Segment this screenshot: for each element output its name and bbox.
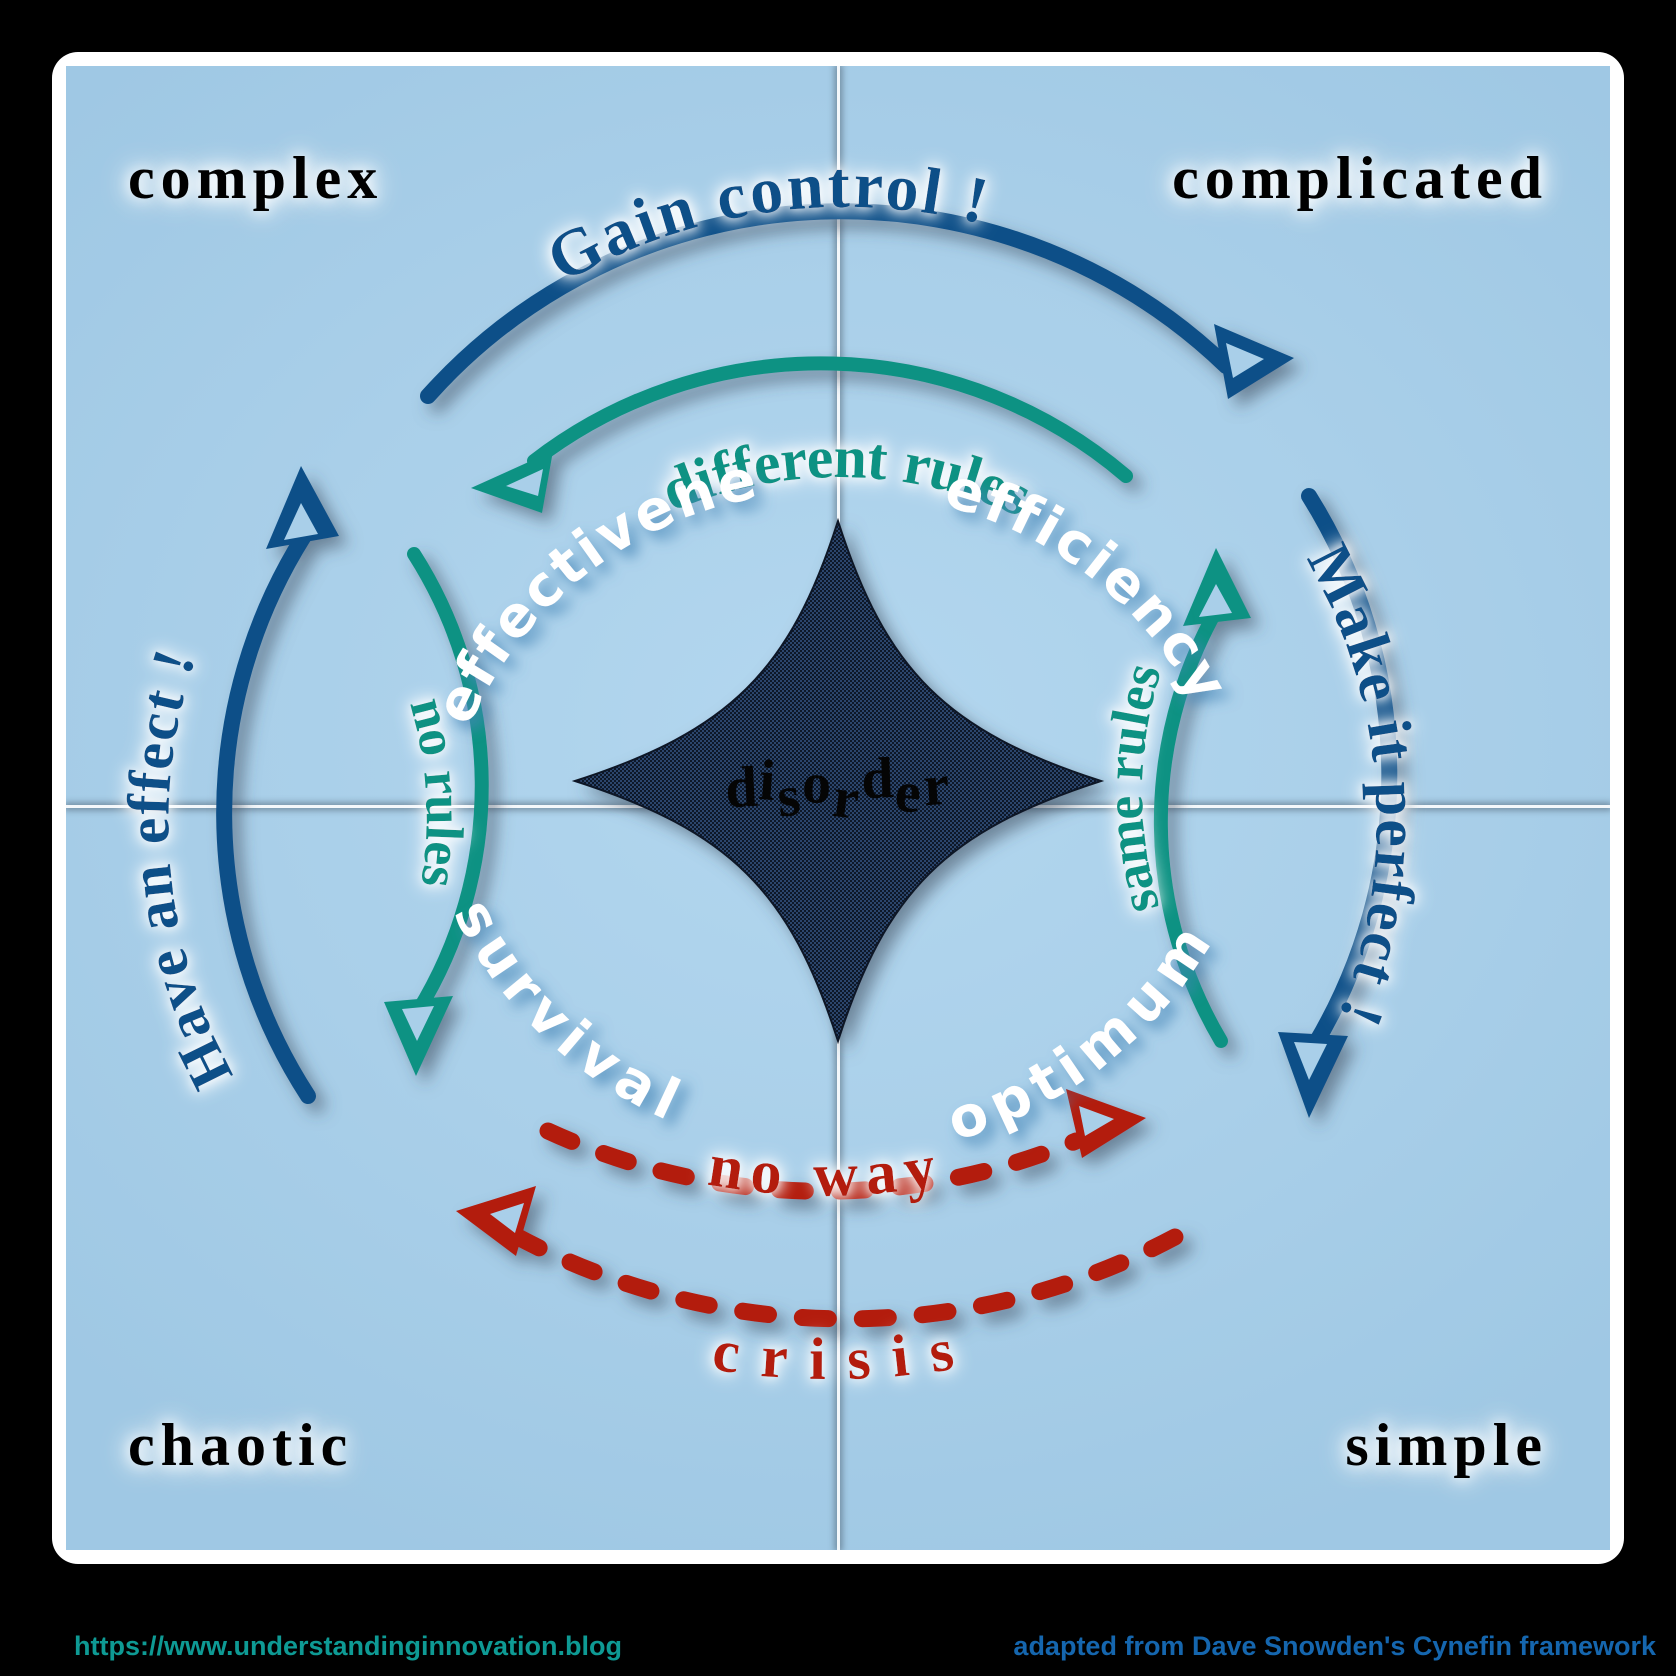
disorder-label: disorder disorder	[725, 754, 950, 821]
diagram-root: Gain control ! different rules Have an e…	[0, 0, 1676, 1676]
quadrant-label-complex: complex	[128, 144, 383, 213]
diagram-panel: Gain control ! different rules Have an e…	[66, 66, 1610, 1550]
label-efficiency: efficiency	[938, 456, 1242, 714]
label-no-way: no way	[704, 1131, 949, 1210]
white-frame: Gain control ! different rules Have an e…	[52, 52, 1624, 1564]
quadrant-label-chaotic: chaotic	[128, 1411, 353, 1480]
disorder-text: disorder	[725, 754, 950, 821]
quadrant-label-simple: simple	[1345, 1411, 1548, 1480]
footer-attribution: adapted from Dave Snowden's Cynefin fram…	[1013, 1631, 1656, 1662]
label-gain-control: Gain control !	[535, 149, 997, 297]
quadrant-label-complicated: complicated	[1172, 144, 1548, 213]
label-crisis: crisis	[709, 1313, 978, 1392]
label-make-it-perfect: Make it perfect !	[1294, 534, 1431, 1037]
label-survival: survival	[441, 889, 693, 1135]
arrow-have-an-effect	[224, 466, 339, 1096]
footer-url[interactable]: https://www.understandinginnovation.blog	[74, 1631, 622, 1662]
